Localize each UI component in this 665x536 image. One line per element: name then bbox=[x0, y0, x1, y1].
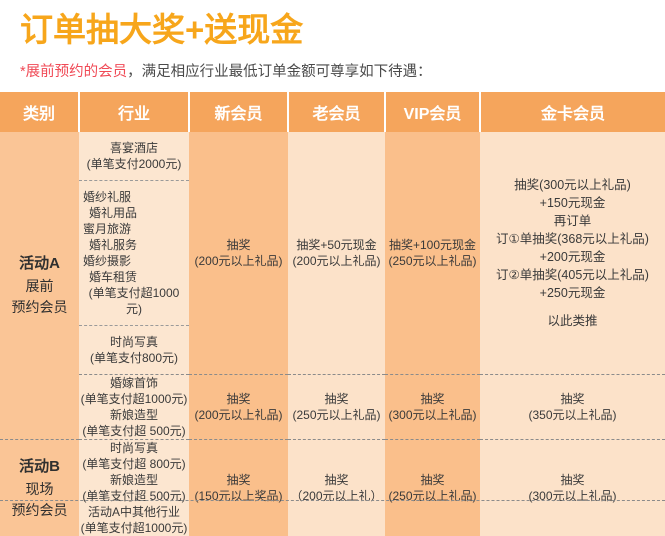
benefit-cell-gold-a1: 抽奖(300元以上礼品) +150元现金 再订单 订①单抽奖(368元以上礼品)… bbox=[480, 132, 665, 375]
industry-group: 时尚写真 (单笔支付800元) bbox=[79, 325, 189, 374]
category-label: 活动A 展前 预约会员 bbox=[0, 253, 79, 318]
industry-group: 喜宴酒店 (单笔支付2000元) bbox=[79, 132, 189, 180]
industry-note: (单笔支付超1000元) bbox=[83, 285, 185, 317]
industry-item: 婚纱摄影 bbox=[83, 253, 133, 269]
industry-line: (单笔支付超1000元) bbox=[79, 391, 189, 407]
industry-pair-row: 婚纱摄影婚车租赁 bbox=[83, 254, 139, 284]
benefits-table: 类别 行业 新会员 老会员 VIP会员 金卡会员 活动A 展前 预约会员 喜宴酒… bbox=[0, 92, 665, 536]
page-subtitle: *展前预约的会员，满足相应行业最低订单金额可尊享如下待遇： bbox=[20, 62, 432, 82]
industry-item: 婚礼服务 bbox=[89, 237, 139, 253]
spacer bbox=[480, 302, 665, 312]
category-label: 活动B 现场 预约会员 bbox=[0, 456, 79, 521]
industry-item: 婚车租赁 bbox=[89, 269, 139, 285]
industry-line: 新娘造型 bbox=[79, 407, 189, 423]
benefit-line: 抽奖 bbox=[189, 472, 288, 488]
column-header-category: 类别 bbox=[0, 92, 79, 132]
industry-line: (单笔支付超 500元) bbox=[79, 423, 189, 439]
benefit-line: 以此类推 bbox=[480, 312, 665, 330]
benefit-cell-vip-a1: 抽奖+100元现金 (250元以上礼品) bbox=[385, 132, 480, 375]
benefit-line: (300元以上礼品) bbox=[480, 488, 665, 504]
benefit-cell-new-b1: 抽奖 (150元以上奖品) bbox=[189, 440, 288, 536]
table-row: 婚嫁首饰 (单笔支付超1000元) 新娘造型 (单笔支付超 500元) 抽奖 (… bbox=[0, 375, 665, 440]
industry-group: 婚纱礼服婚礼用品 蜜月旅游婚礼服务 婚纱摄影婚车租赁 (单笔支付超1000元) bbox=[79, 180, 189, 325]
benefit-line: (200元以上礼品) bbox=[189, 407, 288, 423]
benefit-line: (250元以上礼品) bbox=[385, 253, 480, 269]
benefit-cell-new-a2: 抽奖 (200元以上礼品) bbox=[189, 375, 288, 440]
benefit-line: 抽奖 bbox=[480, 391, 665, 407]
benefit-cell-old-a1: 抽奖+50元现金 (200元以上礼品) bbox=[288, 132, 385, 375]
category-name: 活动B bbox=[0, 456, 79, 477]
benefit-line: 抽奖 bbox=[385, 472, 480, 488]
benefit-cell-old-b1: 抽奖 （200元以上礼） bbox=[288, 440, 385, 536]
industry-line: 婚嫁首饰 bbox=[79, 375, 189, 391]
benefit-cell-vip-b1: 抽奖 (250元以上礼品) bbox=[385, 440, 480, 536]
benefit-line: +250元现金 bbox=[480, 284, 665, 302]
benefit-line: 抽奖 bbox=[385, 391, 480, 407]
subtitle-rest: ，满足相应行业最低订单金额可尊享如下待遇： bbox=[127, 64, 432, 80]
benefit-line: (200元以上礼品) bbox=[189, 253, 288, 269]
benefit-line: 订②单抽奖(405元以上礼品) bbox=[480, 266, 665, 284]
table-row: 活动A 展前 预约会员 喜宴酒店 (单笔支付2000元) 婚纱礼服婚礼用品 bbox=[0, 132, 665, 375]
column-header-new: 新会员 bbox=[189, 92, 288, 132]
industry-cell-b1: 时尚写真 (单笔支付超 800元) 新娘造型 (单笔支付超 500元) 活动A中… bbox=[79, 440, 189, 536]
industry-line: 新娘造型 bbox=[79, 472, 189, 488]
industry-item: 蜜月旅游 bbox=[83, 221, 133, 237]
benefit-line: 抽奖(300元以上礼品) bbox=[480, 176, 665, 194]
promo-page: 订单抽大奖+送现金 *展前预约的会员，满足相应行业最低订单金额可尊享如下待遇： … bbox=[0, 0, 665, 516]
benefit-line: 抽奖 bbox=[288, 391, 385, 407]
benefit-line: 抽奖 bbox=[480, 472, 665, 488]
industry-line: (单笔支付2000元) bbox=[83, 156, 185, 172]
category-cell-activity-a: 活动A 展前 预约会员 bbox=[0, 132, 79, 440]
benefit-cell-old-a2: 抽奖 (250元以上礼品) bbox=[288, 375, 385, 440]
table-row: 活动B 现场 预约会员 时尚写真 (单笔支付超 800元) 新娘造型 (单笔支付… bbox=[0, 440, 665, 536]
table-bottom-border bbox=[0, 500, 665, 501]
industry-line: (单笔支付超 500元) bbox=[79, 488, 189, 504]
industry-line: 时尚写真 bbox=[79, 440, 189, 456]
benefit-line: (250元以上礼品) bbox=[288, 407, 385, 423]
benefit-line: 再订单 bbox=[480, 212, 665, 230]
benefit-line: (250元以上礼品) bbox=[385, 488, 480, 504]
industry-cell-a2: 婚嫁首饰 (单笔支付超1000元) 新娘造型 (单笔支付超 500元) bbox=[79, 375, 189, 440]
industry-line: 喜宴酒店 bbox=[83, 140, 185, 156]
benefit-line: 订①单抽奖(368元以上礼品) bbox=[480, 230, 665, 248]
category-line3: 预约会员 bbox=[0, 297, 79, 318]
column-header-industry: 行业 bbox=[79, 92, 189, 132]
benefit-line: +200元现金 bbox=[480, 248, 665, 266]
benefit-line: （200元以上礼） bbox=[288, 488, 385, 504]
industry-item: 婚礼用品 bbox=[89, 205, 139, 221]
industry-item: 婚纱礼服 bbox=[83, 189, 133, 205]
subtitle-highlight: 展前预约的会员 bbox=[26, 64, 128, 80]
industry-line: (单笔支付超1000元) bbox=[79, 520, 189, 536]
category-cell-activity-b: 活动B 现场 预约会员 bbox=[0, 440, 79, 536]
benefit-line: 抽奖 bbox=[189, 237, 288, 253]
benefit-line: 抽奖 bbox=[189, 391, 288, 407]
industry-line: (单笔支付超 800元) bbox=[79, 456, 189, 472]
benefit-line: 抽奖 bbox=[288, 472, 385, 488]
column-header-gold: 金卡会员 bbox=[480, 92, 665, 132]
benefit-line: (150元以上奖品) bbox=[189, 488, 288, 504]
benefit-line: (350元以上礼品) bbox=[480, 407, 665, 423]
benefit-line: (300元以上礼品) bbox=[385, 407, 480, 423]
benefit-cell-gold-b1: 抽奖 (300元以上礼品) bbox=[480, 440, 665, 536]
benefit-cell-vip-a2: 抽奖 (300元以上礼品) bbox=[385, 375, 480, 440]
benefit-cell-gold-a2: 抽奖 (350元以上礼品) bbox=[480, 375, 665, 440]
industry-pair-row: 蜜月旅游婚礼服务 bbox=[83, 222, 139, 252]
benefit-line: (200元以上礼品) bbox=[288, 253, 385, 269]
industry-cell-a1: 喜宴酒店 (单笔支付2000元) 婚纱礼服婚礼用品 蜜月旅游婚礼服务 婚纱摄影婚… bbox=[79, 132, 189, 375]
category-line3: 预约会员 bbox=[0, 500, 79, 521]
industry-pair-grid: 婚纱礼服婚礼用品 蜜月旅游婚礼服务 婚纱摄影婚车租赁 bbox=[83, 189, 185, 285]
industry-line: 时尚写真 bbox=[83, 334, 185, 350]
table-header-row: 类别 行业 新会员 老会员 VIP会员 金卡会员 bbox=[0, 92, 665, 132]
benefit-line: 抽奖+50元现金 bbox=[288, 237, 385, 253]
benefit-cell-new-a1: 抽奖 (200元以上礼品) bbox=[189, 132, 288, 375]
category-line2: 现场 bbox=[0, 479, 79, 500]
page-title: 订单抽大奖+送现金 bbox=[20, 9, 303, 51]
category-line2: 展前 bbox=[0, 276, 79, 297]
benefit-line: +150元现金 bbox=[480, 194, 665, 212]
category-name: 活动A bbox=[0, 253, 79, 274]
column-header-vip: VIP会员 bbox=[385, 92, 480, 132]
industry-line: (单笔支付800元) bbox=[83, 350, 185, 366]
industry-pair-row: 婚纱礼服婚礼用品 bbox=[83, 190, 139, 220]
column-header-old: 老会员 bbox=[288, 92, 385, 132]
benefit-line: 抽奖+100元现金 bbox=[385, 237, 480, 253]
industry-line: 活动A中其他行业 bbox=[79, 504, 189, 520]
